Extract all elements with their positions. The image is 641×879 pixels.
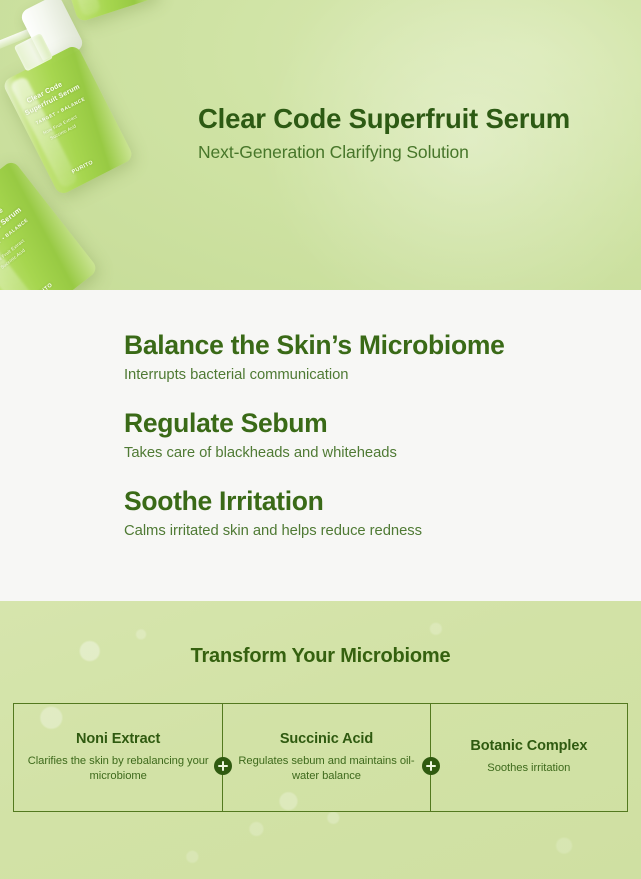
ingredient-column-botanic-complex: Botanic Complex Soothes irritation bbox=[431, 704, 627, 811]
ingredient-column-noni-extract: Noni Extract Clarifies the skin by rebal… bbox=[14, 704, 223, 811]
benefit-description: Calms irritated skin and helps reduce re… bbox=[124, 522, 594, 540]
plus-circle-icon bbox=[214, 757, 232, 775]
benefit-heading: Balance the Skin’s Microbiome bbox=[124, 330, 594, 361]
ingredients-table: Noni Extract Clarifies the skin by rebal… bbox=[13, 703, 628, 812]
benefit-description: Takes care of blackheads and whiteheads bbox=[124, 444, 594, 462]
page-subtitle: Next-Generation Clarifying Solution bbox=[198, 142, 622, 163]
ingredient-name: Noni Extract bbox=[76, 731, 160, 747]
ingredient-name: Succinic Acid bbox=[280, 731, 373, 747]
benefits-section: Balance the Skin’s Microbiome Interrupts… bbox=[0, 290, 641, 601]
page-title: Clear Code Superfruit Serum bbox=[198, 104, 622, 135]
ingredient-column-succinic-acid: Succinic Acid Regulates sebum and mainta… bbox=[223, 704, 430, 811]
benefit-description: Interrupts bacterial communication bbox=[124, 366, 594, 384]
benefit-heading: Regulate Sebum bbox=[124, 408, 594, 439]
benefit-item-sebum: Regulate Sebum Takes care of blackheads … bbox=[124, 408, 594, 462]
serum-bottles-photo: Clear Code Superfruit Serum TARGET • BAL… bbox=[0, 0, 214, 290]
ingredients-section: Transform Your Microbiome Noni Extract C… bbox=[0, 601, 641, 879]
product-detail-page: Clear Code Superfruit Serum TARGET • BAL… bbox=[0, 0, 641, 879]
ingredient-description: Soothes irritation bbox=[487, 761, 570, 776]
benefit-item-microbiome: Balance the Skin’s Microbiome Interrupts… bbox=[124, 330, 594, 384]
ingredients-title: Transform Your Microbiome bbox=[0, 645, 641, 668]
hero-section: Clear Code Superfruit Serum TARGET • BAL… bbox=[0, 0, 641, 290]
bottle-label-brand: PURITO bbox=[31, 282, 54, 290]
plus-circle-icon bbox=[422, 757, 440, 775]
bottle-label-brand: PURITO bbox=[71, 159, 94, 175]
ingredient-description: Clarifies the skin by rebalancing your m… bbox=[22, 754, 214, 784]
benefit-item-irritation: Soothe Irritation Calms irritated skin a… bbox=[124, 486, 594, 540]
ingredient-name: Botanic Complex bbox=[470, 738, 587, 754]
ingredient-description: Regulates sebum and maintains oil-water … bbox=[231, 754, 421, 784]
hero-copy-block: Clear Code Superfruit Serum Next-Generat… bbox=[198, 104, 622, 163]
benefit-heading: Soothe Irritation bbox=[124, 486, 594, 517]
